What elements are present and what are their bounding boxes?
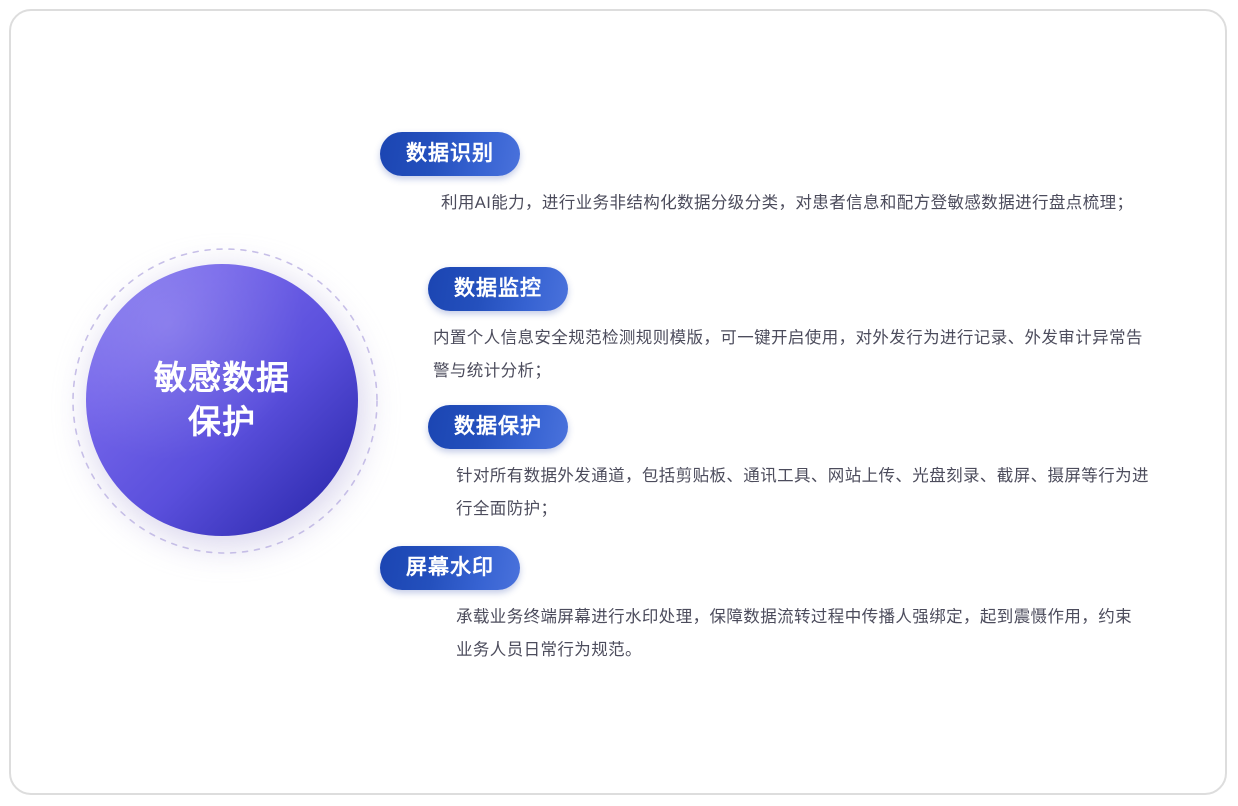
feature-item-data-protection: 数据保护 针对所有数据外发通道，包括剪贴板、通讯工具、网站上传、光盘刻录、截屏、… — [428, 405, 1156, 526]
feature-item-screen-watermark: 屏幕水印 承载业务终端屏幕进行水印处理，保障数据流转过程中传播人强绑定，起到震慑… — [380, 546, 1146, 667]
feature-badge[interactable]: 数据监控 — [428, 267, 568, 311]
feature-description: 利用AI能力，进行业务非结构化数据分级分类，对患者信息和配方登敏感数据进行盘点梳… — [441, 187, 1141, 220]
feature-description: 承载业务终端屏幕进行水印处理，保障数据流转过程中传播人强绑定，起到震慑作用，约束… — [456, 601, 1146, 667]
feature-badge[interactable]: 数据保护 — [428, 405, 568, 449]
feature-description: 针对所有数据外发通道，包括剪贴板、通讯工具、网站上传、光盘刻录、截屏、摄屏等行为… — [456, 460, 1156, 526]
feature-badge[interactable]: 数据识别 — [380, 132, 520, 176]
feature-item-data-monitoring: 数据监控 内置个人信息安全规范检测规则模版，可一键开启使用，对外发行为进行记录、… — [428, 267, 1151, 388]
feature-item-data-identification: 数据识别 利用AI能力，进行业务非结构化数据分级分类，对患者信息和配方登敏感数据… — [380, 132, 1141, 220]
feature-list: 数据识别 利用AI能力，进行业务非结构化数据分级分类，对患者信息和配方登敏感数据… — [11, 11, 1229, 797]
feature-badge[interactable]: 屏幕水印 — [380, 546, 520, 590]
content-card: 敏感数据 保护 数据识别 利用AI能力，进行业务非结构化数据分级分类，对患者信息… — [9, 9, 1227, 795]
feature-description: 内置个人信息安全规范检测规则模版，可一键开启使用，对外发行为进行记录、外发审计异… — [433, 322, 1151, 388]
